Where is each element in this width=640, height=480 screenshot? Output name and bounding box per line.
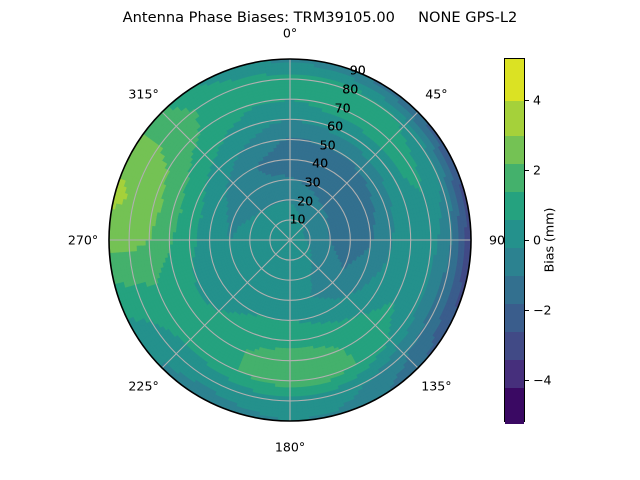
colorbar-band	[505, 101, 524, 137]
colorbar-band	[505, 304, 524, 333]
radial-tick-label: 80	[342, 81, 358, 96]
colorbar-tick	[525, 100, 529, 101]
colorbar-band	[505, 220, 524, 249]
colorbar-tick-label: −4	[533, 373, 552, 388]
radial-tick-label: 40	[312, 156, 328, 171]
colorbar-band	[505, 248, 524, 277]
colorbar-band	[505, 192, 524, 221]
colorbar-tick-label: 0	[533, 233, 541, 248]
colorbar-band	[505, 164, 524, 193]
theta-tick-label: 135°	[421, 379, 451, 394]
theta-tick-label: 45°	[425, 86, 447, 101]
theta-tick-label: 180°	[275, 440, 305, 455]
radial-tick-label: 90	[350, 63, 366, 78]
figure-canvas: Antenna Phase Biases: TRM39105.00 NONE G…	[0, 0, 640, 480]
colorbar-band	[505, 360, 524, 389]
colorbar-axis-label: Bias (mm)	[542, 208, 557, 273]
radial-tick-label: 30	[305, 175, 321, 190]
colorbar-tick	[525, 380, 529, 381]
colorbar-band	[505, 388, 524, 424]
colorbar-tick-label: 4	[533, 93, 541, 108]
colorbar-tick	[525, 240, 529, 241]
colorbar-tick-label: 2	[533, 163, 541, 178]
polar-grid-group	[109, 59, 471, 421]
theta-tick-label: 225°	[128, 379, 158, 394]
colorbar-tick-label: −2	[533, 303, 552, 318]
colorbar[interactable]	[504, 58, 525, 422]
theta-tick-label: 0°	[283, 26, 297, 41]
theta-tick-label: 90	[489, 233, 505, 248]
colorbar-band	[505, 276, 524, 305]
colorbar-band	[505, 136, 524, 165]
radial-tick-label: 50	[320, 137, 336, 152]
colorbar-band	[505, 332, 524, 361]
radial-tick-label: 20	[297, 193, 313, 208]
radial-tick-label: 10	[289, 212, 305, 227]
page-title: Antenna Phase Biases: TRM39105.00 NONE G…	[0, 9, 640, 26]
colorbar-band	[505, 59, 524, 102]
polar-contour-plot	[108, 58, 472, 422]
polar-axes[interactable]: 102030405060708090 0°45°90135°180°225°27…	[108, 58, 472, 422]
theta-tick-label: 315°	[128, 86, 158, 101]
colorbar-tick	[525, 170, 529, 171]
colorbar-tick	[525, 310, 529, 311]
theta-tick-label: 270°	[68, 233, 98, 248]
radial-tick-label: 60	[327, 119, 343, 134]
radial-tick-label: 70	[335, 100, 351, 115]
